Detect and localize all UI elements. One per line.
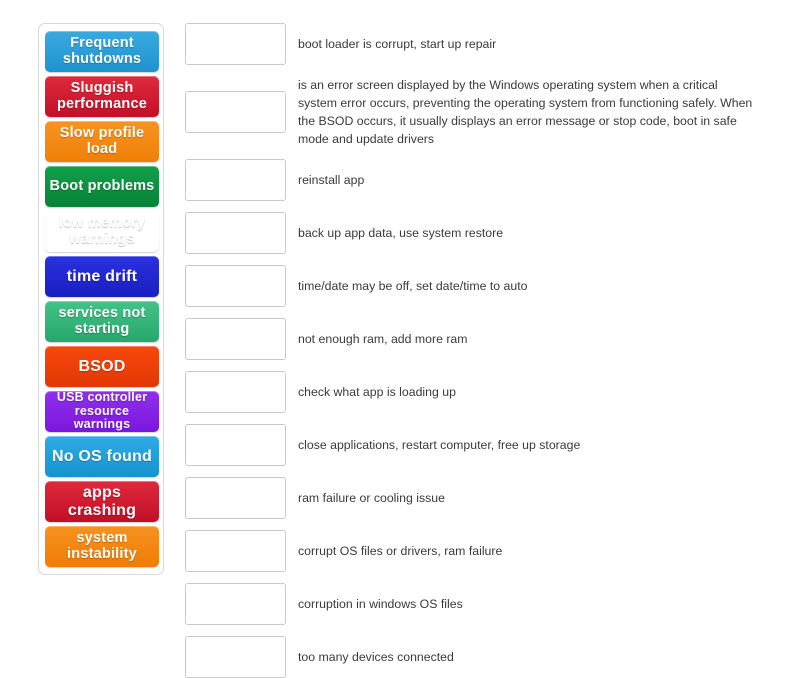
draggable-tile[interactable]: Boot problems <box>45 166 159 207</box>
drop-zone[interactable] <box>185 265 286 307</box>
draggable-tile[interactable]: No OS found <box>45 436 159 477</box>
tile-label: Slow profile load <box>48 126 156 157</box>
draggable-tile[interactable]: BSOD <box>45 346 159 387</box>
answer-row: too many devices connected <box>185 636 765 678</box>
drop-zone[interactable] <box>185 23 286 65</box>
tile-label: services not starting <box>48 306 156 337</box>
answer-row: ram failure or cooling issue <box>185 477 765 519</box>
answer-text: time/date may be off, set date/time to a… <box>298 277 753 295</box>
drop-zone[interactable] <box>185 583 286 625</box>
draggable-tile[interactable]: system instability <box>45 526 159 567</box>
answer-row: boot loader is corrupt, start up repair <box>185 23 765 65</box>
answer-text: reinstall app <box>298 171 753 189</box>
matching-activity-board: Frequent shutdownsSluggish performanceSl… <box>0 0 800 600</box>
drop-zone[interactable] <box>185 159 286 201</box>
drop-zone[interactable] <box>185 424 286 466</box>
answer-text: back up app data, use system restore <box>298 224 753 242</box>
answer-row: close applications, restart computer, fr… <box>185 424 765 466</box>
answer-row: back up app data, use system restore <box>185 212 765 254</box>
drop-zone[interactable] <box>185 477 286 519</box>
tile-label: low memory warnings <box>48 216 156 247</box>
tile-label: system instability <box>48 531 156 562</box>
drop-zone[interactable] <box>185 530 286 572</box>
tile-label: No OS found <box>48 448 156 465</box>
answer-text: corruption in windows OS files <box>298 595 753 613</box>
answer-text: check what app is loading up <box>298 383 753 401</box>
draggable-tile[interactable]: USB controller resource warnings <box>45 391 159 432</box>
tile-label: Boot problems <box>48 179 156 195</box>
answer-row: corrupt OS files or drivers, ram failure <box>185 530 765 572</box>
tile-label: Frequent shutdowns <box>48 36 156 67</box>
tile-label: apps crashing <box>48 484 156 519</box>
drop-zone[interactable] <box>185 371 286 413</box>
draggable-tile[interactable]: time drift <box>45 256 159 297</box>
tile-label: USB controller resource warnings <box>48 391 156 432</box>
drop-zone[interactable] <box>185 318 286 360</box>
answer-text: too many devices connected <box>298 648 753 666</box>
draggable-tile[interactable]: Frequent shutdowns <box>45 31 159 72</box>
draggable-tile-tray: Frequent shutdownsSluggish performanceSl… <box>38 23 164 575</box>
draggable-tile[interactable]: Slow profile load <box>45 121 159 162</box>
tile-label: BSOD <box>48 358 156 375</box>
answer-row-list: boot loader is corrupt, start up repairi… <box>185 23 765 678</box>
drop-zone[interactable] <box>185 636 286 678</box>
tile-label: Sluggish performance <box>48 81 156 112</box>
answer-text: not enough ram, add more ram <box>298 330 753 348</box>
answer-row: corruption in windows OS files <box>185 583 765 625</box>
answer-row: reinstall app <box>185 159 765 201</box>
answer-text: close applications, restart computer, fr… <box>298 436 753 454</box>
answer-row: check what app is loading up <box>185 371 765 413</box>
drop-zone[interactable] <box>185 212 286 254</box>
answer-row: time/date may be off, set date/time to a… <box>185 265 765 307</box>
answer-text: corrupt OS files or drivers, ram failure <box>298 542 753 560</box>
answer-row: not enough ram, add more ram <box>185 318 765 360</box>
draggable-tile[interactable]: low memory warnings <box>45 211 159 252</box>
tile-label: time drift <box>48 268 156 285</box>
drop-zone[interactable] <box>185 91 286 133</box>
draggable-tile[interactable]: services not starting <box>45 301 159 342</box>
answer-text: is an error screen displayed by the Wind… <box>298 76 753 148</box>
draggable-tile[interactable]: Sluggish performance <box>45 76 159 117</box>
answer-text: boot loader is corrupt, start up repair <box>298 35 753 53</box>
answer-text: ram failure or cooling issue <box>298 489 753 507</box>
draggable-tile[interactable]: apps crashing <box>45 481 159 522</box>
answer-row: is an error screen displayed by the Wind… <box>185 76 765 148</box>
